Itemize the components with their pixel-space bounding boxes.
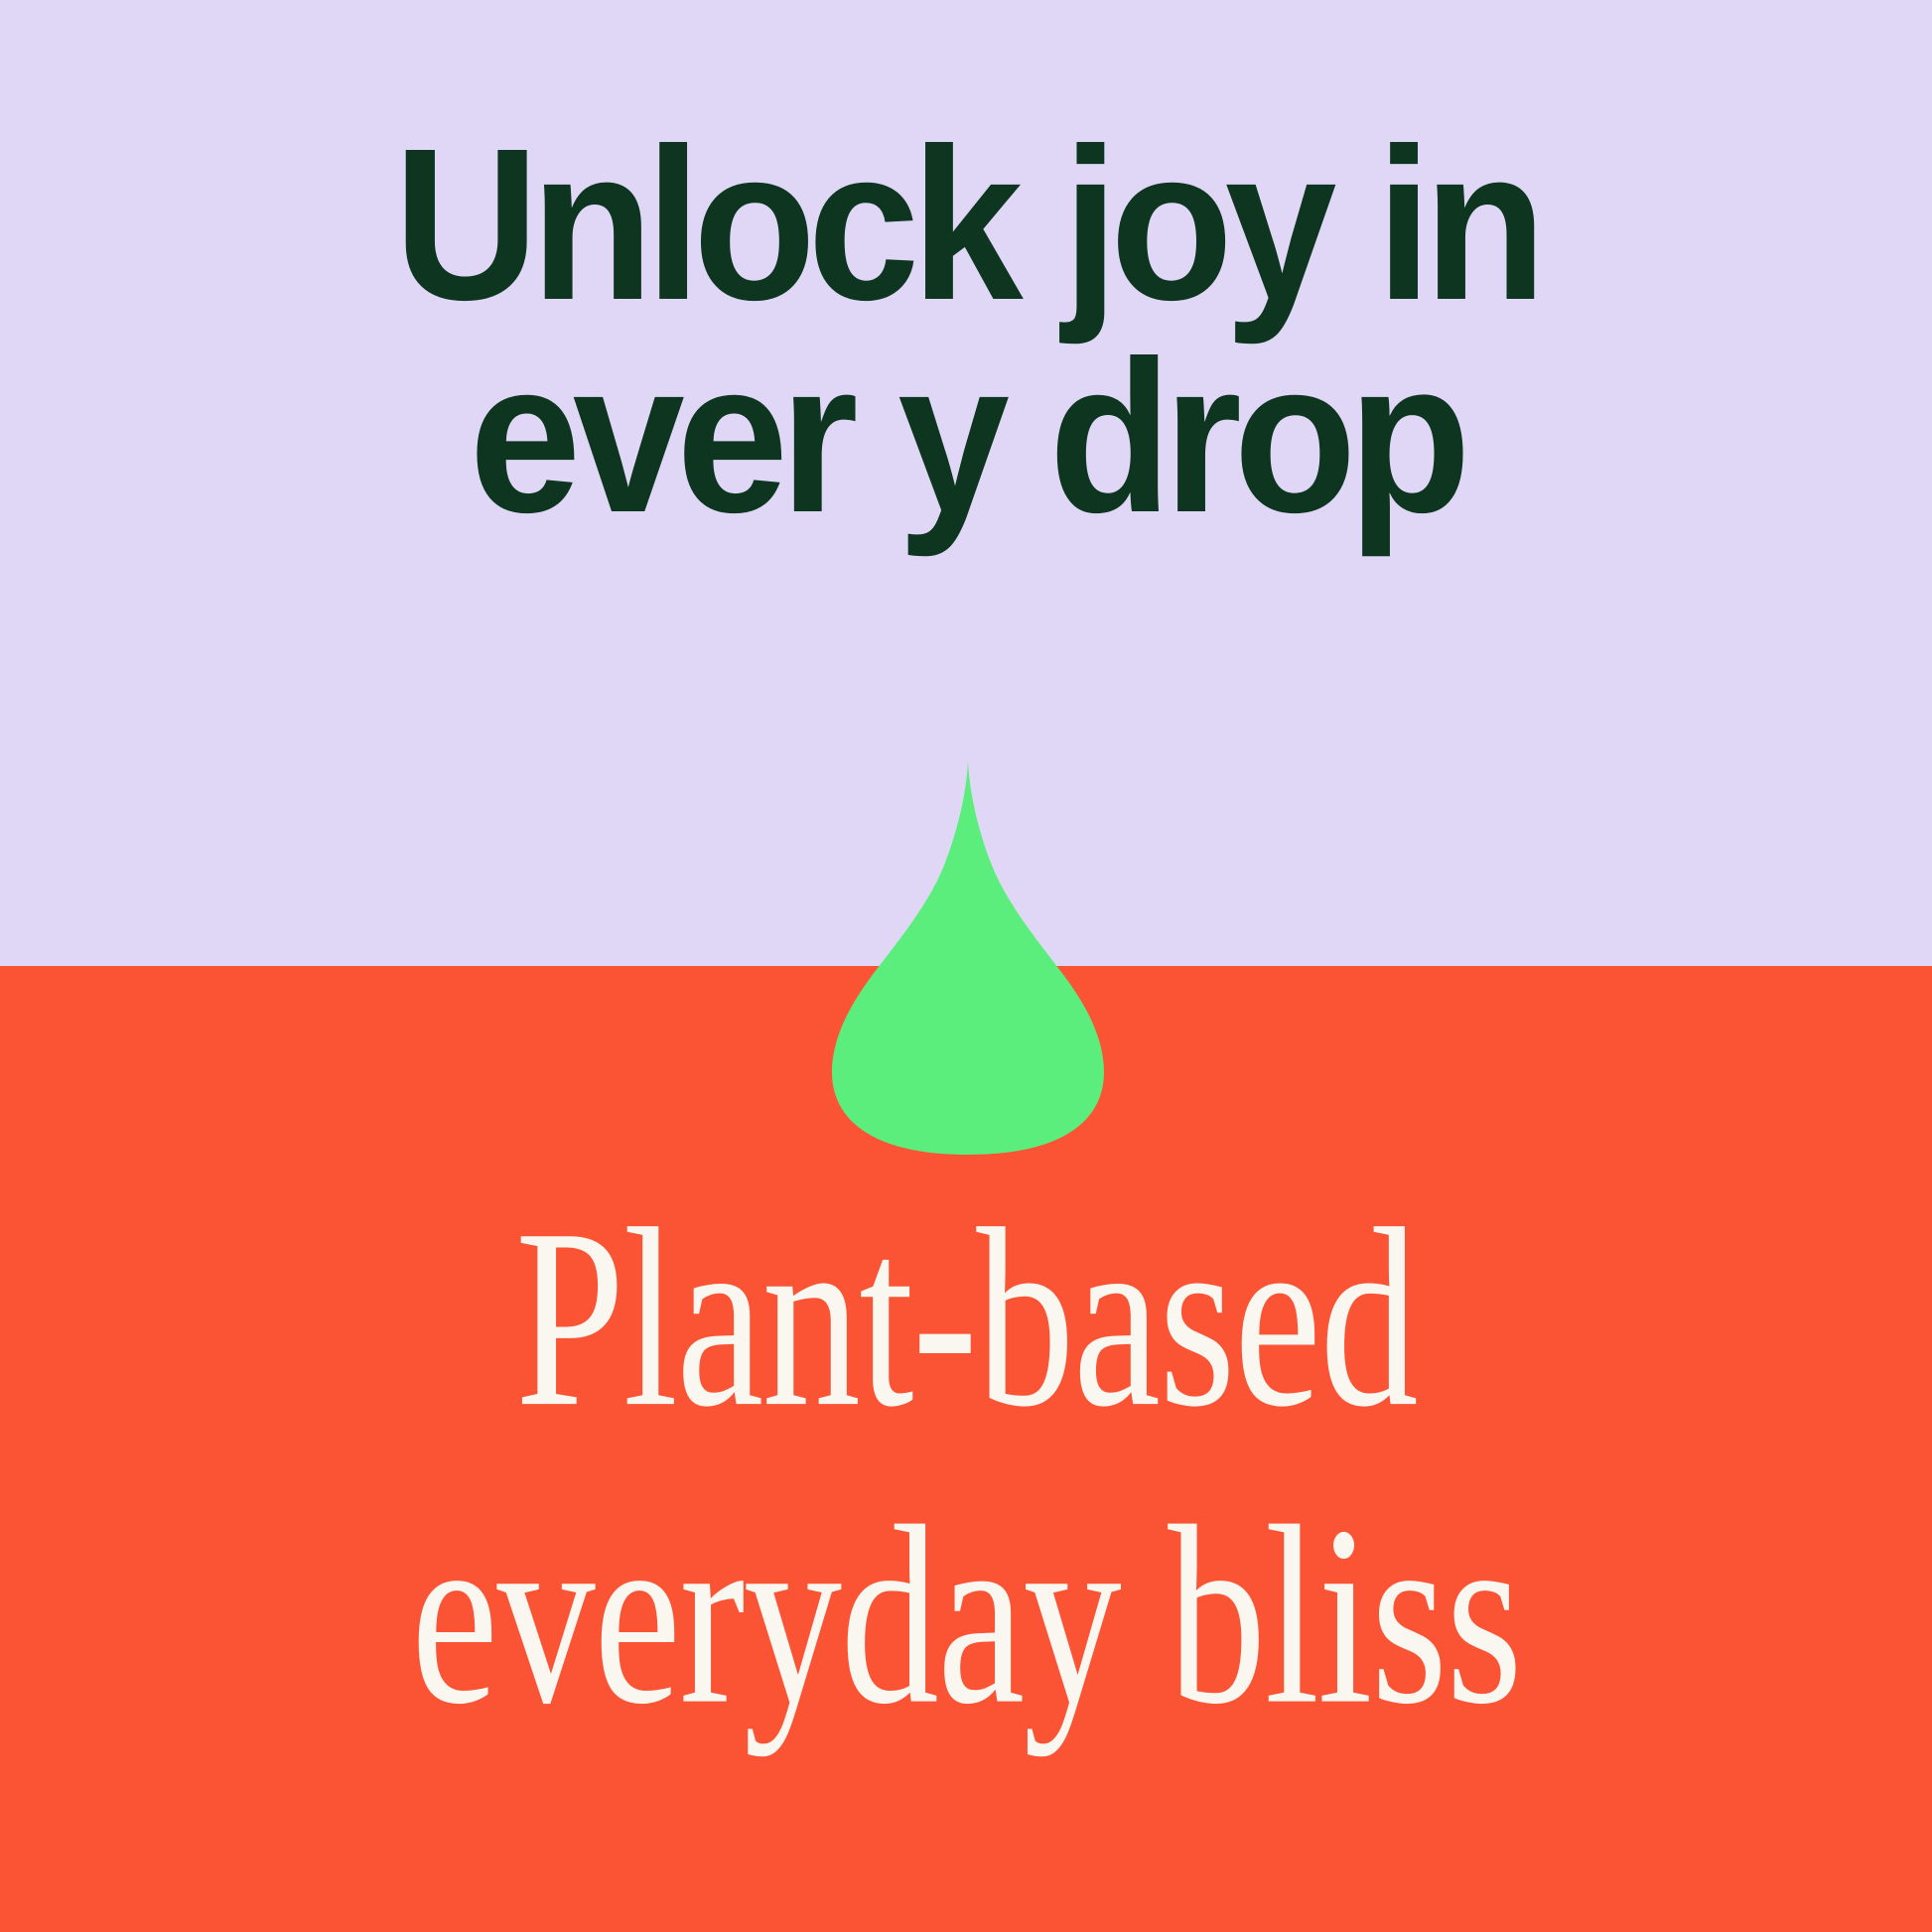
poster-canvas: Unlock joy in ever y drop Plant-based ev… <box>0 0 1932 1932</box>
water-drop-icon <box>832 759 1104 1155</box>
